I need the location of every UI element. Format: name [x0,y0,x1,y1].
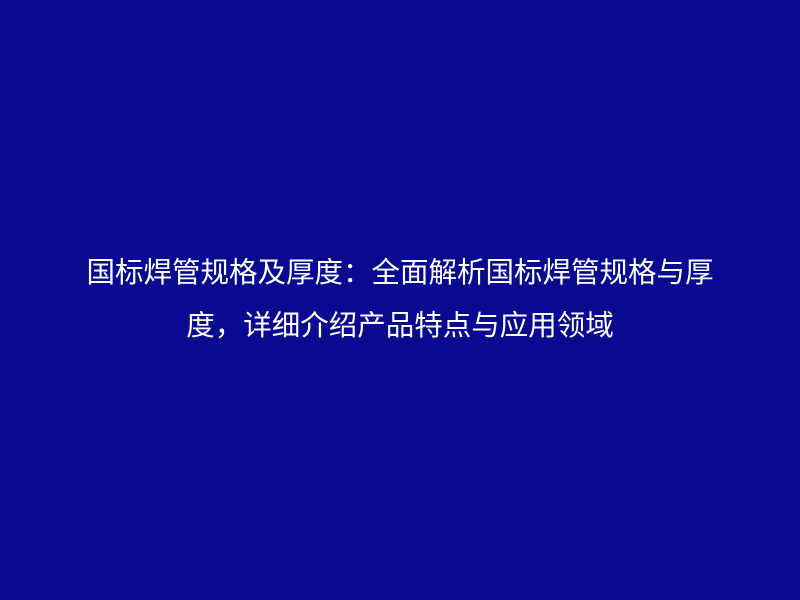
title-line-1: 国标焊管规格及厚度：全面解析国标焊管规格与厚 [28,247,772,300]
title-line-2: 度，详细介绍产品特点与应用领域 [28,300,772,353]
slide-canvas: 国标焊管规格及厚度：全面解析国标焊管规格与厚 度，详细介绍产品特点与应用领域 [0,0,800,600]
title-block: 国标焊管规格及厚度：全面解析国标焊管规格与厚 度，详细介绍产品特点与应用领域 [0,0,800,600]
